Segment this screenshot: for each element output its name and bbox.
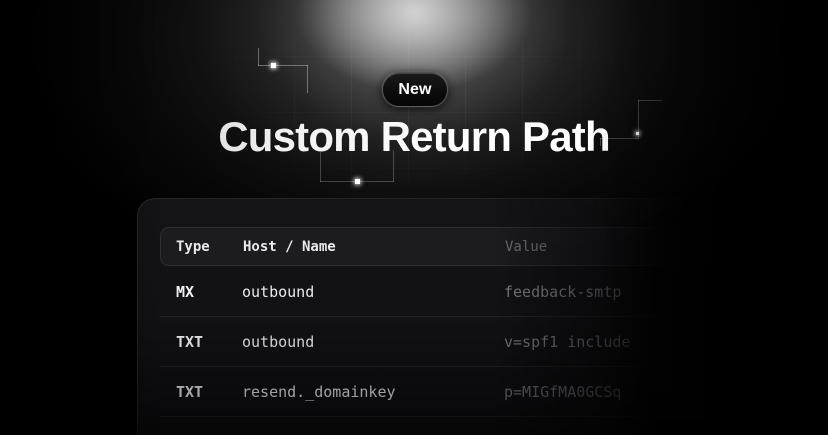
table-header-row: Type Host / Name Value [160, 227, 726, 266]
cell-host: outbound [242, 333, 504, 351]
cell-type: MX [160, 283, 242, 301]
table-row[interactable]: TXT outbound v=spf1 include [160, 317, 726, 367]
column-header-value: Value [505, 239, 725, 255]
dns-records-table: Type Host / Name Value MX outbound feedb… [160, 227, 726, 417]
new-badge: New [382, 72, 448, 107]
cell-type: TXT [160, 383, 242, 401]
column-header-host: Host / Name [243, 239, 505, 255]
new-badge-label: New [398, 81, 431, 99]
background-grid-vertical [180, 0, 650, 215]
dns-records-card: Type Host / Name Value MX outbound feedb… [137, 198, 749, 435]
background-grid-horizontal [180, 0, 650, 215]
table-row[interactable]: MX outbound feedback-smtp [160, 267, 726, 317]
promo-banner: New Custom Return Path Type Host / Name … [0, 0, 828, 435]
cell-host: resend._domainkey [242, 383, 504, 401]
column-header-type: Type [161, 239, 243, 255]
decorative-bracket-top-left [250, 48, 310, 93]
page-title: Custom Return Path [0, 114, 828, 160]
cell-value: v=spf1 include [504, 333, 726, 351]
table-row[interactable]: TXT resend._domainkey p=MIGfMA0GCSq [160, 367, 726, 417]
cell-host: outbound [242, 283, 504, 301]
cell-type: TXT [160, 333, 242, 351]
cell-value: p=MIGfMA0GCSq [504, 383, 726, 401]
cell-value: feedback-smtp [504, 283, 726, 301]
